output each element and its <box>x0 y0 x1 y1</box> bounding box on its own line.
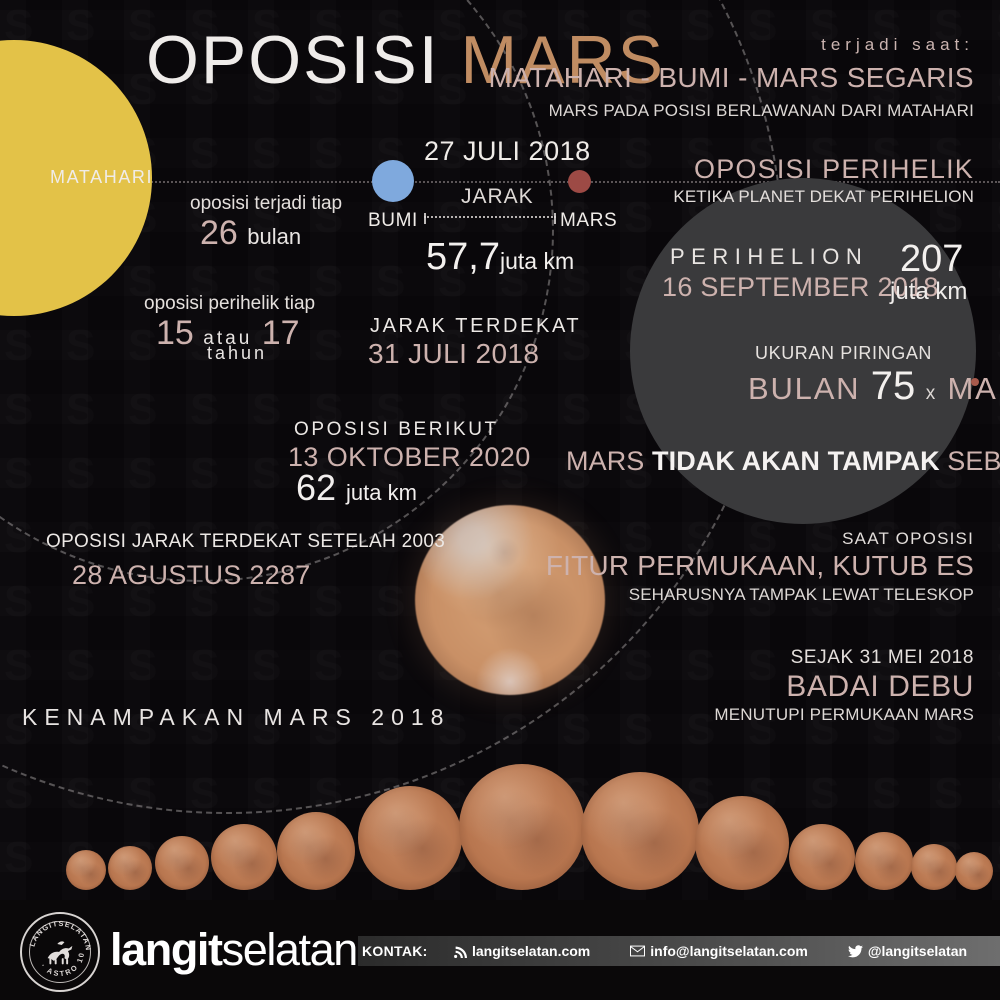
mars-phase-jul-6: JUL <box>482 760 562 890</box>
mars-phase-strip: JANFEBMARAPRMEIJUNJULAGTSEPOKTNOVDESJAN <box>0 760 1000 890</box>
distance-value: 57,7 <box>426 236 500 278</box>
kontak-label: KONTAK: <box>362 943 428 959</box>
nearest-after-2003-label: OPOSISI JARAK TERDEKAT SETELAH 2003 <box>46 532 445 551</box>
mini-mars-dot <box>971 378 979 386</box>
earth-label: BUMI <box>368 211 418 230</box>
mars-dot <box>568 170 591 193</box>
brand-name-bold: langit <box>110 924 222 975</box>
next-opposition-distance-unit: juta km <box>346 480 417 505</box>
opposition-date: 27 JULI 2018 <box>424 138 591 165</box>
dust-storm-since: SEJAK 31 MEI 2018 <box>791 648 974 667</box>
title-part-oposisi: OPOSISI <box>146 22 440 98</box>
twitter-icon <box>848 945 863 958</box>
contact-text: langitselatan.com <box>472 943 590 959</box>
mars-phase-disk <box>459 764 585 890</box>
frequency-caption: oposisi terjadi tiap <box>190 194 342 213</box>
frequency-unit: bulan <box>247 224 301 249</box>
closest-approach-date: 31 JULI 2018 <box>368 340 539 368</box>
disk-size-factor: 75 <box>871 364 916 408</box>
disk-multiply-symbol: x <box>926 383 937 404</box>
mars-phase-agt-7: AGT <box>600 760 680 890</box>
perihelic-number-2: 17 <box>262 314 300 352</box>
contact-text: info@langitselatan.com <box>650 943 808 959</box>
distance-measure-bar <box>424 216 556 218</box>
mars-phase-disk <box>955 852 993 890</box>
contact-item-email[interactable]: info@langitselatan.com <box>630 943 808 959</box>
earth-dot <box>372 160 414 202</box>
distance-word: JARAK <box>461 186 534 207</box>
perihelic-caption: oposisi perihelik tiap <box>144 294 315 313</box>
alignment-subtext: MARS PADA POSISI BERLAWANAN DARI MATAHAR… <box>549 102 974 119</box>
occurs-when-label: terjadi saat: <box>821 36 974 53</box>
mars-phase-disk <box>358 786 462 890</box>
next-opposition-distance: 62 <box>296 467 336 508</box>
email-icon <box>630 945 645 957</box>
perihelic-opposition-title: OPOSISI PERIHELIK <box>694 156 974 183</box>
mars-phase-jan-12: JAN <box>934 760 1000 890</box>
surface-features-subtext: SEHARUSNYA TAMPAK LEWAT TELESKOP <box>629 586 974 603</box>
disk-mars-label: MARS <box>947 371 1000 406</box>
rss-icon <box>454 945 467 958</box>
closest-approach-label: JARAK TERDEKAT <box>370 316 581 336</box>
brand-name-light: selatan <box>222 924 357 975</box>
brand-wordmark: langitselatan <box>110 924 357 976</box>
disk-size-comparison: BULAN 75 x MARS <box>748 366 1000 406</box>
dust-storm-subtext: MENUTUPI PERMUKAAN MARS <box>714 706 974 723</box>
contact-item-twitter[interactable]: @langitselatan <box>848 943 967 959</box>
disk-moon-label: BULAN <box>748 371 860 406</box>
surface-features-headline: FITUR PERMUKAAN, KUTUB ES <box>546 552 974 580</box>
sun-label: MATAHARI <box>50 168 153 186</box>
mars-phase-disk <box>211 824 277 890</box>
contact-text: @langitselatan <box>868 943 967 959</box>
infographic-poster: S OPOSISI MARS MATAHARI BUMI MARS 27 JUL… <box>0 0 1000 1000</box>
centaur-icon <box>42 937 78 967</box>
myth-part-1: MARS <box>566 446 652 476</box>
mars-phase-disk <box>581 772 699 890</box>
mars-phase-mei-4: MEI <box>276 760 356 890</box>
contact-item-rss[interactable]: langitselatan.com <box>454 943 590 959</box>
frequency-number: 26 <box>200 214 238 252</box>
next-opposition-distance-group: 62juta km <box>296 470 417 506</box>
frequency-value-group: 26 bulan <box>200 216 301 250</box>
mars-phase-apr-3: APR <box>204 760 284 890</box>
next-opposition-label: OPOSISI BERIKUT <box>294 420 499 439</box>
mars-phase-disk <box>155 836 209 890</box>
alignment-headline: MATAHARI - BUMI - MARS SEGARIS <box>489 64 974 92</box>
mars-label: MARS <box>560 211 617 230</box>
mars-phase-disk <box>277 812 355 890</box>
perihelic-number-1: 15 <box>156 314 194 352</box>
myth-statement: MARS TIDAK AKAN TAMPAK SEBESAR BULAN <box>566 448 1000 475</box>
at-opposition-label: SAAT OPOSISI <box>842 530 974 547</box>
disk-size-caption: UKURAN PIRINGAN <box>755 344 932 362</box>
perihelic-opposition-subtitle: KETIKA PLANET DEKAT PERIHELION <box>673 188 974 205</box>
distance-unit: juta km <box>500 248 574 274</box>
myth-part-3: SEBESAR BULAN <box>940 446 1000 476</box>
mars-phase-disk <box>695 796 789 890</box>
perihelion-distance-unit: juta km <box>890 280 967 304</box>
mars-phase-jun-5: JUN <box>370 760 450 890</box>
contact-bar: langitselatan.cominfo@langitselatan.com@… <box>358 936 1000 966</box>
phases-heading: KENAMPAKAN MARS 2018 <box>22 706 450 729</box>
perihelic-unit: tahun <box>207 344 267 362</box>
nearest-after-2003-date: 28 AGUSTUS 2287 <box>72 562 311 589</box>
perihelion-word: PERIHELION <box>670 246 868 268</box>
mars-phase-sep-8: SEP <box>702 760 782 890</box>
langitselatan-seal-logo: LANGITSELATAN · ASTRO 101 · <box>20 912 100 992</box>
dust-storm-title: BADAI DEBU <box>786 672 974 702</box>
myth-part-2: TIDAK AKAN TAMPAK <box>652 446 940 476</box>
distance-value-group: 57,7juta km <box>426 238 574 276</box>
